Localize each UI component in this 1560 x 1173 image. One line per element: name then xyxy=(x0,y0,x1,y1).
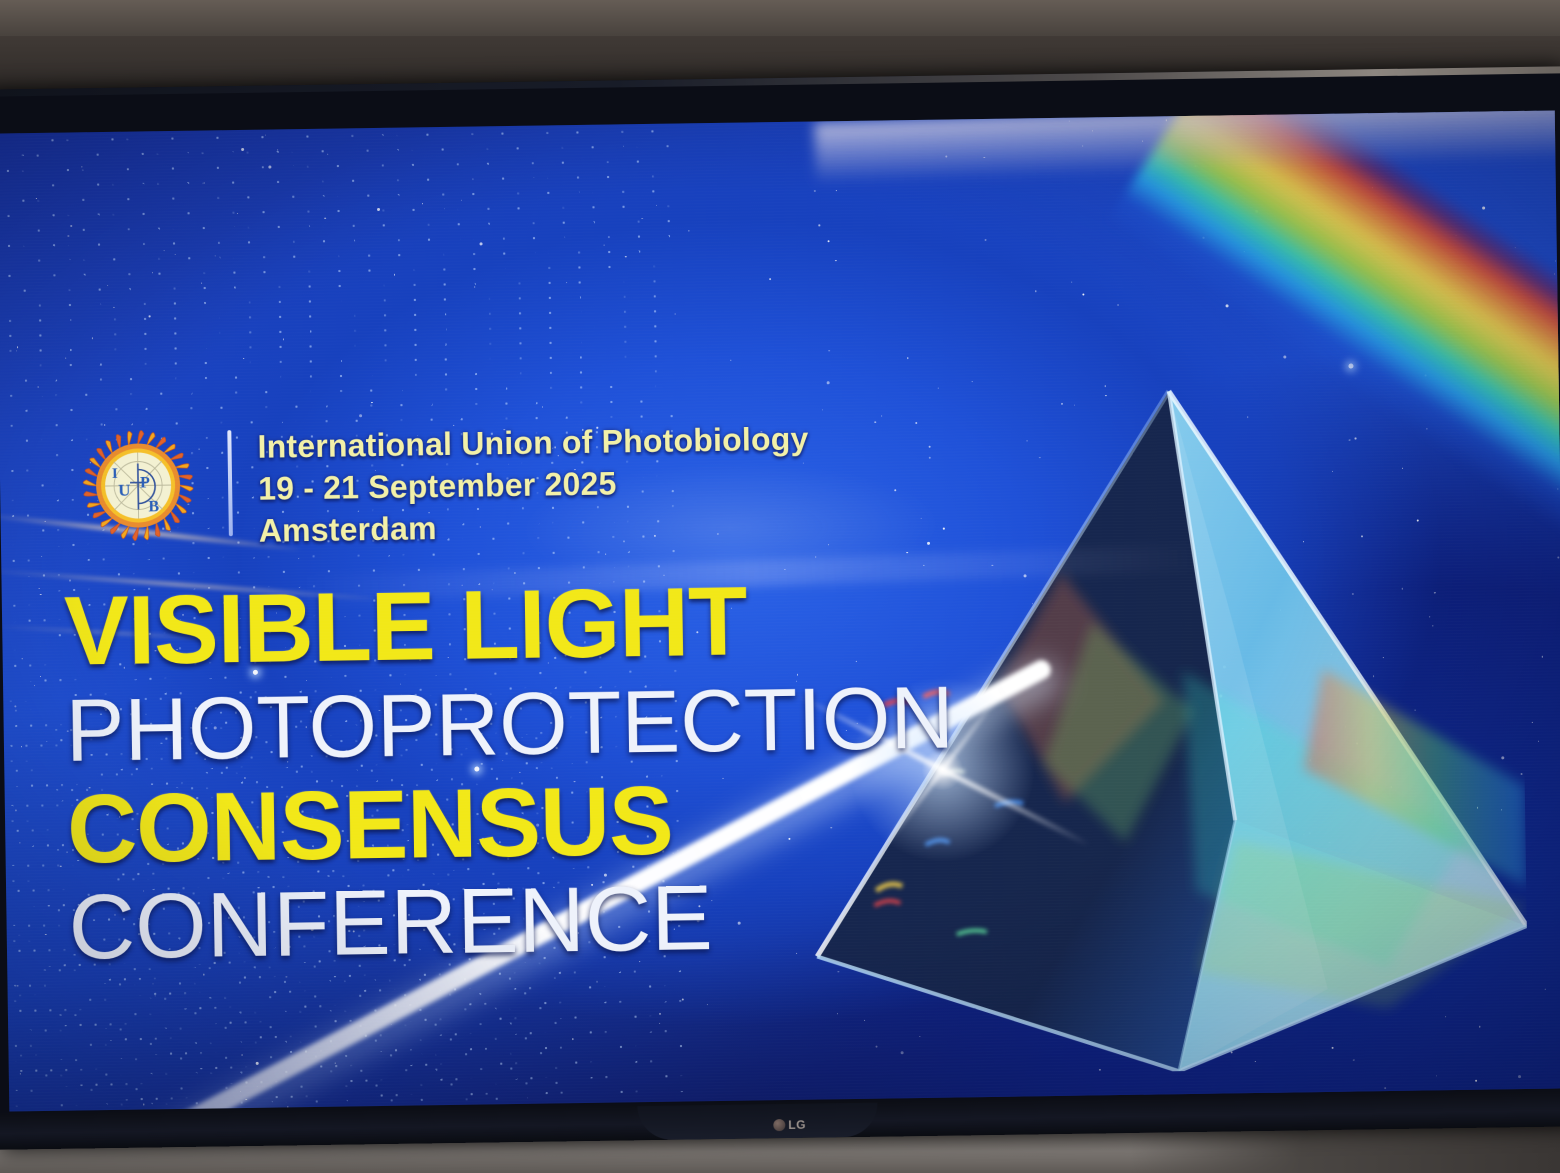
photo-scene: I U P B International Union of Photobiol… xyxy=(0,0,1560,1173)
title-line-consensus: CONSENSUS xyxy=(67,769,1028,877)
svg-text:I: I xyxy=(112,466,118,482)
svg-text:U: U xyxy=(118,481,131,500)
title-line-visible-light: VISIBLE LIGHT xyxy=(64,570,1025,678)
title-line-photoprotection: PHOTOPROTECTION xyxy=(65,673,1026,773)
title-line-conference: CONFERENCE xyxy=(68,869,1029,972)
bezel-center-notch xyxy=(638,1103,878,1141)
slide-screen: I U P B International Union of Photobiol… xyxy=(0,110,1560,1111)
slide-title: VISIBLE LIGHT PHOTOPROTECTION CONSENSUS … xyxy=(64,570,1030,972)
lg-brand-mark: LG xyxy=(773,1118,806,1132)
svg-text:B: B xyxy=(148,498,159,515)
svg-text:P: P xyxy=(140,474,150,491)
television-display: I U P B International Union of Photobiol… xyxy=(0,66,1560,1149)
lg-circle-icon xyxy=(773,1119,785,1131)
iupb-sun-logo: I U P B xyxy=(71,419,205,553)
wall-highlight xyxy=(0,0,1560,36)
lg-brand-label: LG xyxy=(788,1118,806,1132)
event-meta: International Union of Photobiology 19 -… xyxy=(257,414,1019,552)
